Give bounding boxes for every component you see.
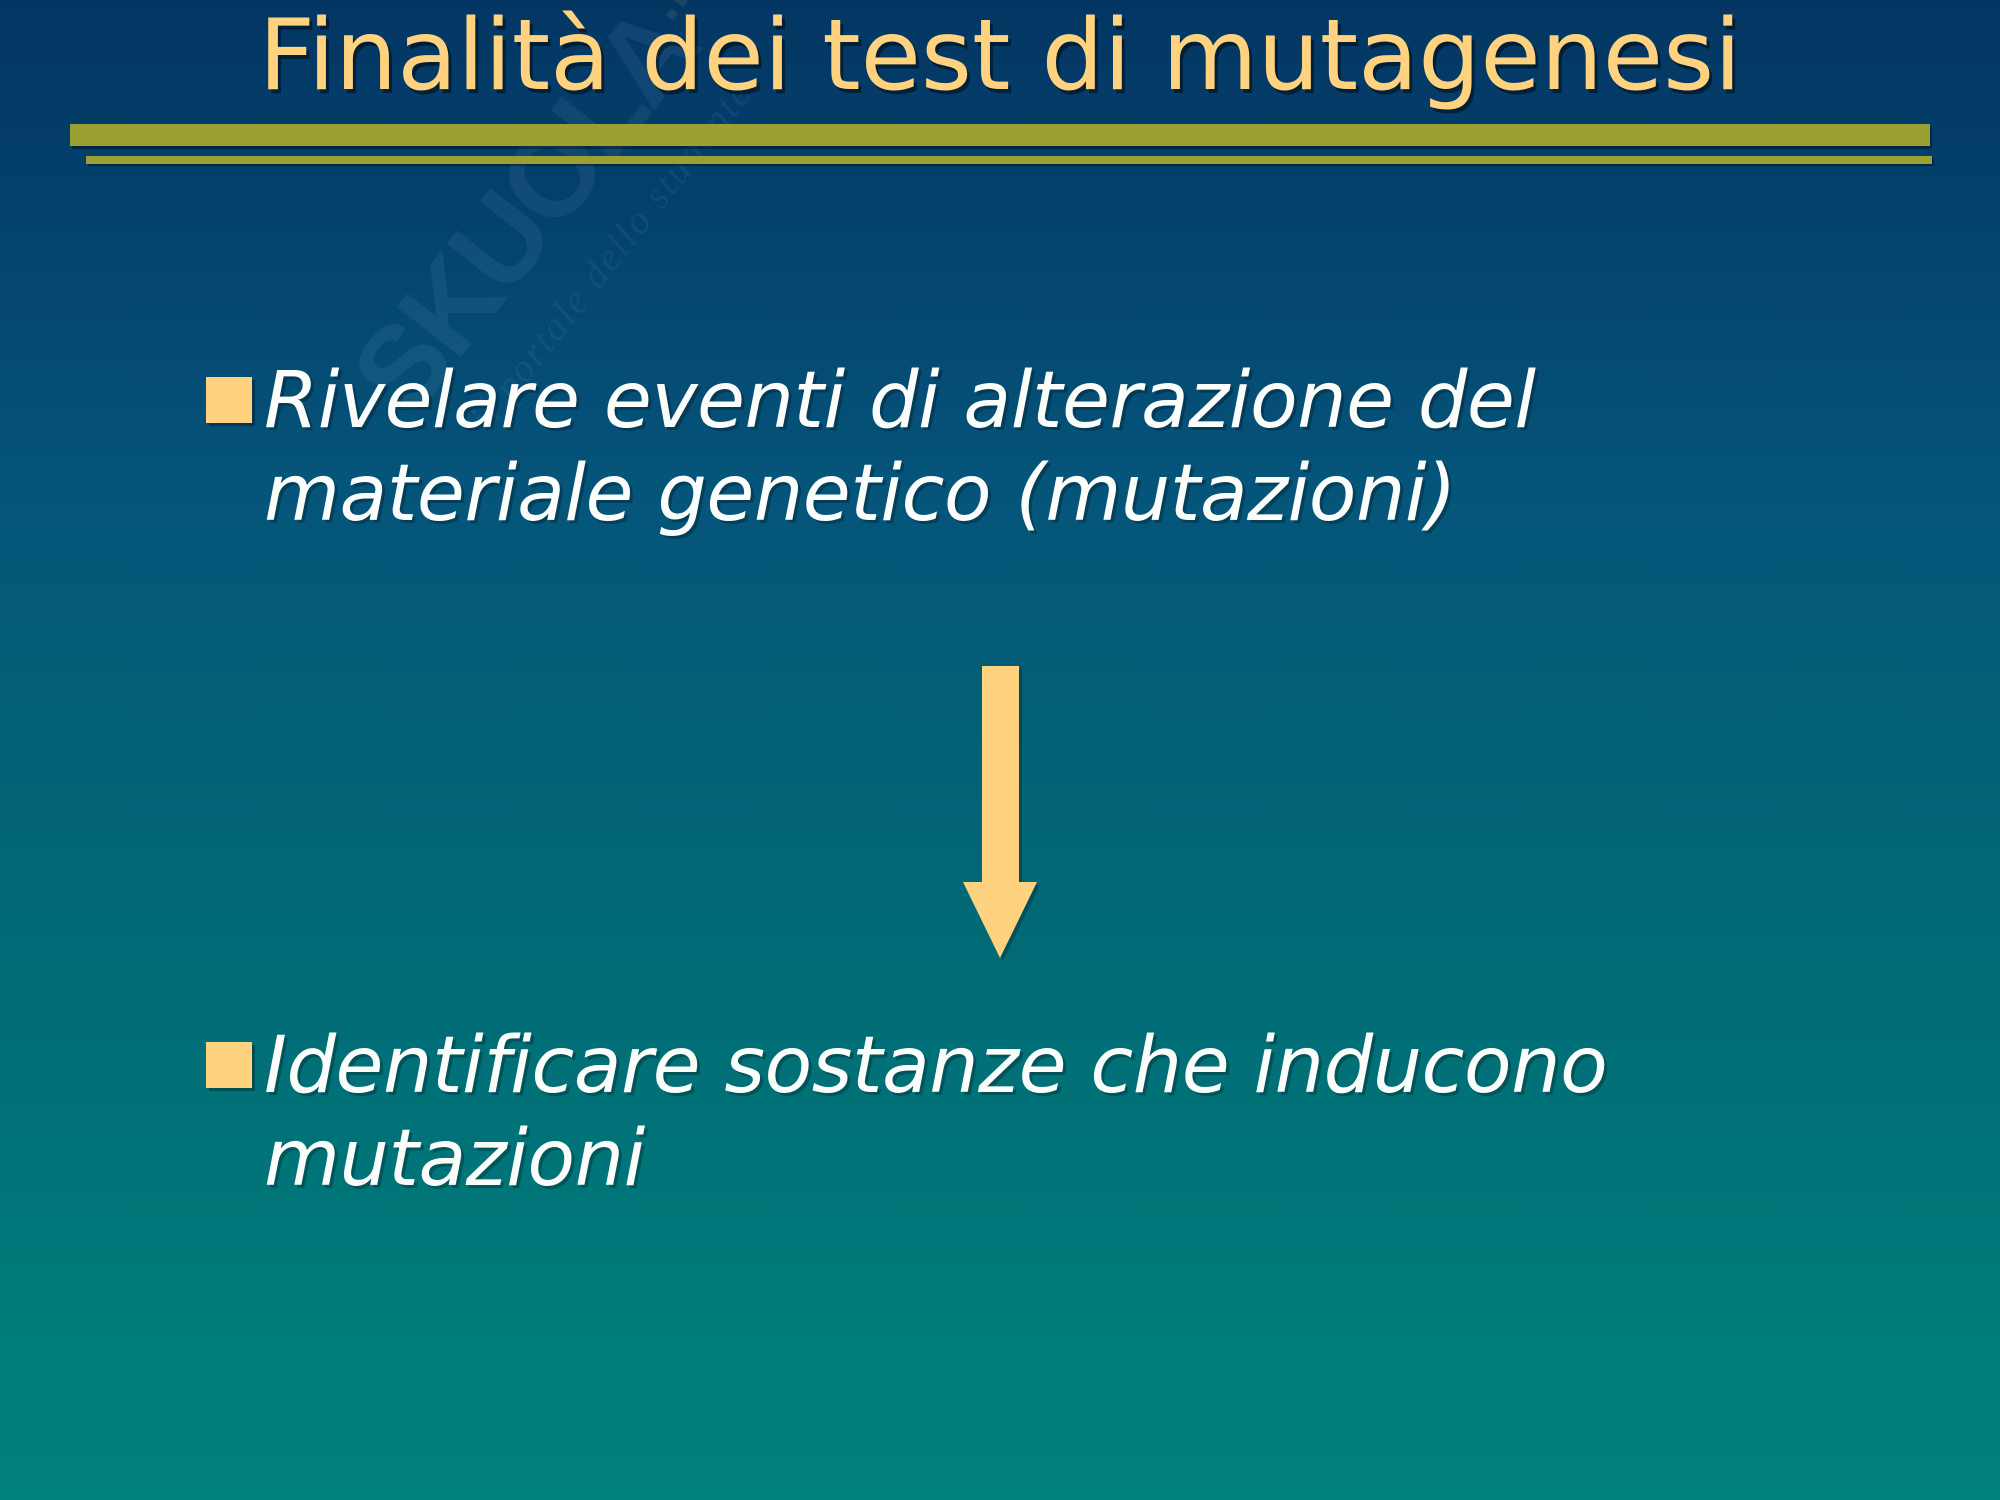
- title-divider: [0, 0, 2000, 180]
- bullet-item-1: Rivelare eventi di alterazione del mater…: [206, 355, 1906, 541]
- square-bullet-icon: [206, 1042, 252, 1088]
- divider-thick-rule: [70, 124, 1930, 146]
- bullet-item-2: Identificare sostanze che inducono mutaz…: [206, 1020, 1906, 1206]
- down-arrow-icon: [963, 666, 1037, 958]
- presentation-slide: SKUOLA.net il portale dello studente Fin…: [0, 0, 2000, 1500]
- arrow-shaft: [982, 666, 1019, 886]
- arrow-head: [963, 882, 1037, 958]
- bullet-item-1-text: Rivelare eventi di alterazione del mater…: [264, 355, 1906, 541]
- bullet-item-2-text: Identificare sostanze che inducono mutaz…: [264, 1020, 1906, 1206]
- square-bullet-icon: [206, 377, 252, 423]
- divider-thin-rule: [86, 156, 1932, 164]
